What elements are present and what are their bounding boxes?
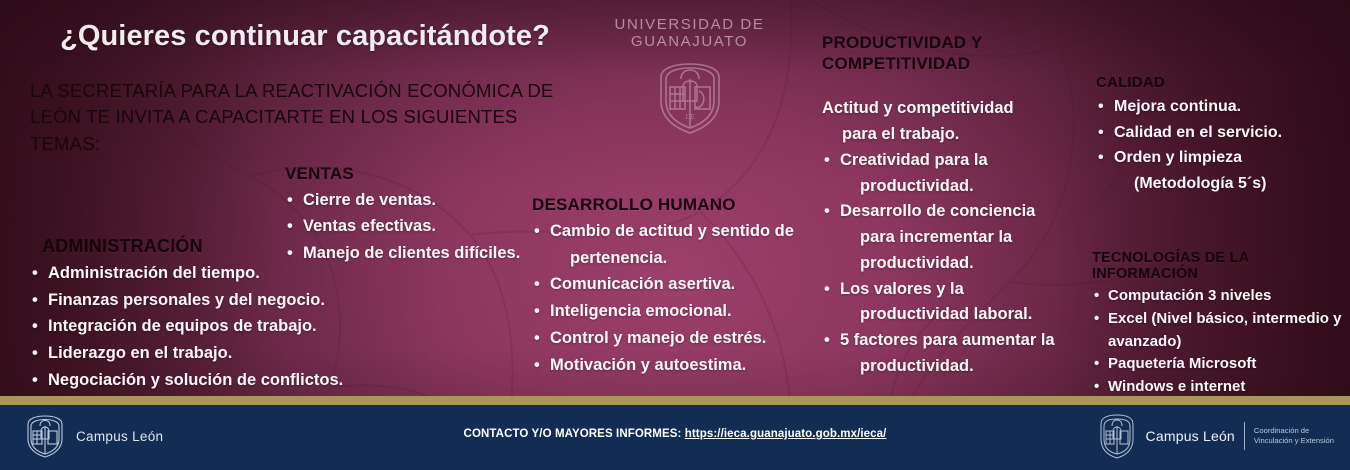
block-heading: VENTAS	[285, 164, 540, 184]
list-item: Cambio de actitud y sentido de pertenenc…	[532, 218, 822, 271]
campus-leon-crest-icon	[1097, 412, 1137, 460]
list-item-text: Ventas efectivas.	[303, 217, 436, 235]
intro-paragraph: LA SECRETARÍA PARA LA REACTIVACIÓN ECONÓ…	[30, 78, 590, 157]
list-item-text: Motivación y autoestima.	[550, 356, 746, 374]
list-item: Paquetería Microsoft	[1092, 353, 1350, 376]
list-item: Cierre de ventas.	[285, 187, 540, 213]
university-name-line1: UNIVERSIDAD DE	[592, 16, 787, 33]
list-item: Actitud y competitividad para el trabajo…	[822, 96, 1062, 147]
list-item-text: Cierre de ventas.	[303, 191, 436, 209]
list-item-text: Inteligencia emocional.	[550, 302, 732, 320]
poster-canvas: ¿Quieres continuar capacitándote? LA SEC…	[0, 0, 1350, 470]
list-item: 5 factores para aumentar la productivida…	[822, 328, 1062, 379]
list-item-text-cont: (Metodología 5´s)	[1114, 171, 1346, 197]
list-item-text: Computación 3 niveles	[1108, 287, 1271, 304]
list-item-text: Negociación y solución de conflictos.	[48, 371, 343, 389]
list-item: Inteligencia emocional.	[532, 298, 822, 325]
block-calidad: CALIDAD Mejora continua. Calidad en el s…	[1096, 74, 1346, 196]
list-item: Ventas efectivas.	[285, 213, 540, 239]
university-crest-icon: DE	[653, 57, 727, 137]
list-item-text: Liderazgo en el trabajo.	[48, 344, 232, 362]
list-item-text-cont: para el trabajo.	[822, 122, 1062, 148]
list-item-text-cont: para incrementar la productividad.	[840, 225, 1062, 276]
list-item-text-cont: pertenencia.	[550, 245, 822, 272]
block-heading: CALIDAD	[1096, 74, 1346, 91]
block-list: Administración del tiempo. Finanzas pers…	[30, 260, 380, 394]
list-item-text: Creatividad para la	[840, 151, 988, 169]
block-ventas: VENTAS Cierre de ventas. Ventas efectiva…	[285, 164, 540, 266]
block-list: Cierre de ventas. Ventas efectivas. Mane…	[285, 187, 540, 266]
list-item: Excel (Nivel básico, intermedio y avanza…	[1092, 308, 1350, 354]
list-item: Los valores y la productividad laboral.	[822, 277, 1062, 328]
list-item: Control y manejo de estrés.	[532, 325, 822, 352]
list-item: Computación 3 niveles	[1092, 285, 1350, 308]
list-item-text-cont: avanzado)	[1108, 331, 1350, 354]
list-item-text: Los valores y la	[840, 280, 964, 298]
list-item-text: Orden y limpieza	[1114, 149, 1242, 166]
list-item-text: Integración de equipos de trabajo.	[48, 317, 317, 335]
footer-coordination-line2: Vinculación y Extensión	[1254, 436, 1334, 446]
list-item-text: Control y manejo de estrés.	[550, 329, 766, 347]
list-item: Finanzas personales y del negocio.	[30, 287, 380, 314]
list-item-text-cont: productividad.	[840, 354, 1062, 380]
footer-bar: Campus León CONTACTO Y/O MAYORES INFORME…	[0, 405, 1350, 470]
list-item-text: Desarrollo de conciencia	[840, 202, 1035, 220]
list-item-text: Finanzas personales y del negocio.	[48, 291, 325, 309]
footer-right-logo-label: Campus León	[1146, 428, 1235, 444]
list-item: Desarrollo de conciencia para incrementa…	[822, 199, 1062, 276]
page-title: ¿Quieres continuar capacitándote?	[60, 20, 550, 53]
list-item-text: Calidad en el servicio.	[1114, 124, 1282, 141]
list-item-text: Windows e internet	[1108, 378, 1245, 395]
block-list: Computación 3 niveles Excel (Nivel básic…	[1092, 285, 1350, 399]
university-name-line2: GUANAJUATO	[592, 33, 787, 50]
list-item: Calidad en el servicio.	[1096, 120, 1346, 146]
list-item-text: Comunicación asertiva.	[550, 275, 735, 293]
footer-coordination-text: Coordinación de Vinculación y Extensión	[1254, 426, 1334, 445]
block-list: Mejora continua. Calidad en el servicio.…	[1096, 94, 1346, 196]
list-item: Integración de equipos de trabajo.	[30, 313, 380, 340]
list-item-text: Actitud y competitividad	[822, 99, 1014, 117]
footer-right-logo: Campus León Coordinación de Vinculación …	[1097, 412, 1334, 460]
list-item: Comunicación asertiva.	[532, 271, 822, 298]
footer-contact-label: CONTACTO Y/O MAYORES INFORMES:	[464, 428, 682, 440]
list-item: Motivación y autoestima.	[532, 352, 822, 379]
list-item-text-cont: productividad laboral.	[840, 302, 1062, 328]
block-list: Cambio de actitud y sentido de pertenenc…	[532, 218, 822, 378]
footer-contact-link[interactable]: https://ieca.guanajuato.gob.mx/ieca/	[685, 428, 887, 440]
block-heading: TECNOLOGÍAS DE LA INFORMACIÓN	[1092, 250, 1350, 282]
block-heading: DESARROLLO HUMANO	[532, 195, 822, 215]
footer-logo-divider	[1244, 422, 1245, 450]
list-item: Creatividad para la productividad.	[822, 148, 1062, 199]
list-item-text: Cambio de actitud y sentido de	[550, 222, 794, 240]
university-logo: UNIVERSIDAD DE GUANAJUATO	[592, 16, 787, 137]
block-list: Actitud y competitividad para el trabajo…	[822, 96, 1062, 379]
list-item: Mejora continua.	[1096, 94, 1346, 120]
block-productividad-competitividad: PRODUCTIVIDAD Y COMPETITIVIDAD Actitud y…	[822, 33, 1062, 380]
list-item-text: 5 factores para aumentar la	[840, 331, 1055, 349]
block-desarrollo-humano: DESARROLLO HUMANO Cambio de actitud y se…	[532, 195, 822, 378]
list-item-text-cont: productividad.	[840, 174, 1062, 200]
list-item-text: Excel (Nivel básico, intermedio y	[1108, 310, 1341, 327]
svg-text:DE: DE	[685, 113, 694, 121]
block-heading: PRODUCTIVIDAD Y COMPETITIVIDAD	[822, 33, 1062, 74]
poster-content: ¿Quieres continuar capacitándote? LA SEC…	[0, 0, 1350, 396]
gold-divider-bar	[0, 396, 1350, 405]
list-item: Negociación y solución de conflictos.	[30, 367, 380, 394]
list-item: Orden y limpieza (Metodología 5´s)	[1096, 145, 1346, 196]
list-item: Liderazgo en el trabajo.	[30, 340, 380, 367]
footer-coordination-line1: Coordinación de	[1254, 426, 1334, 436]
list-item: Manejo de clientes difíciles.	[285, 240, 540, 266]
list-item-text: Manejo de clientes difíciles.	[303, 244, 520, 262]
list-item-text: Administración del tiempo.	[48, 264, 260, 282]
list-item-text: Mejora continua.	[1114, 98, 1241, 115]
block-tecnologias-informacion: TECNOLOGÍAS DE LA INFORMACIÓN Computació…	[1092, 250, 1350, 399]
list-item-text: Paquetería Microsoft	[1108, 355, 1256, 372]
